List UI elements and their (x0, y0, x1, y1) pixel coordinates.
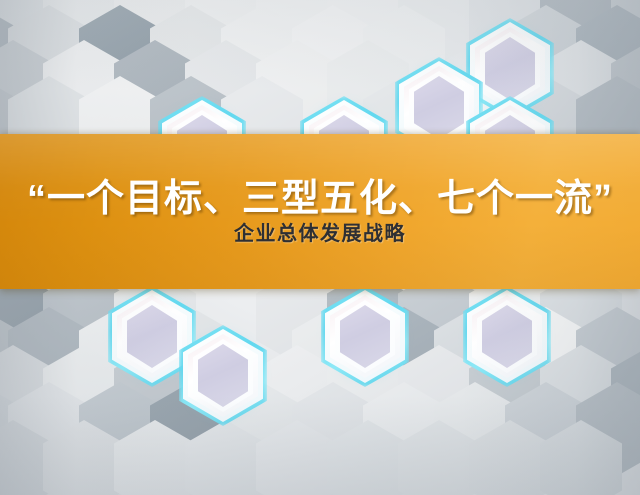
glowing-hexagon (463, 286, 551, 387)
banner-content: “一个目标、三型五化、七个一流” 企业总体发展战略 (0, 134, 640, 289)
page-title: “一个目标、三型五化、七个一流” (27, 180, 613, 218)
glowing-hexagon (321, 286, 409, 387)
slide-canvas: “一个目标、三型五化、七个一流” 企业总体发展战略 (0, 0, 640, 495)
glowing-hexagon (179, 325, 267, 426)
title-banner: “一个目标、三型五化、七个一流” 企业总体发展战略 (0, 134, 640, 289)
page-subtitle: 企业总体发展战略 (234, 224, 406, 244)
